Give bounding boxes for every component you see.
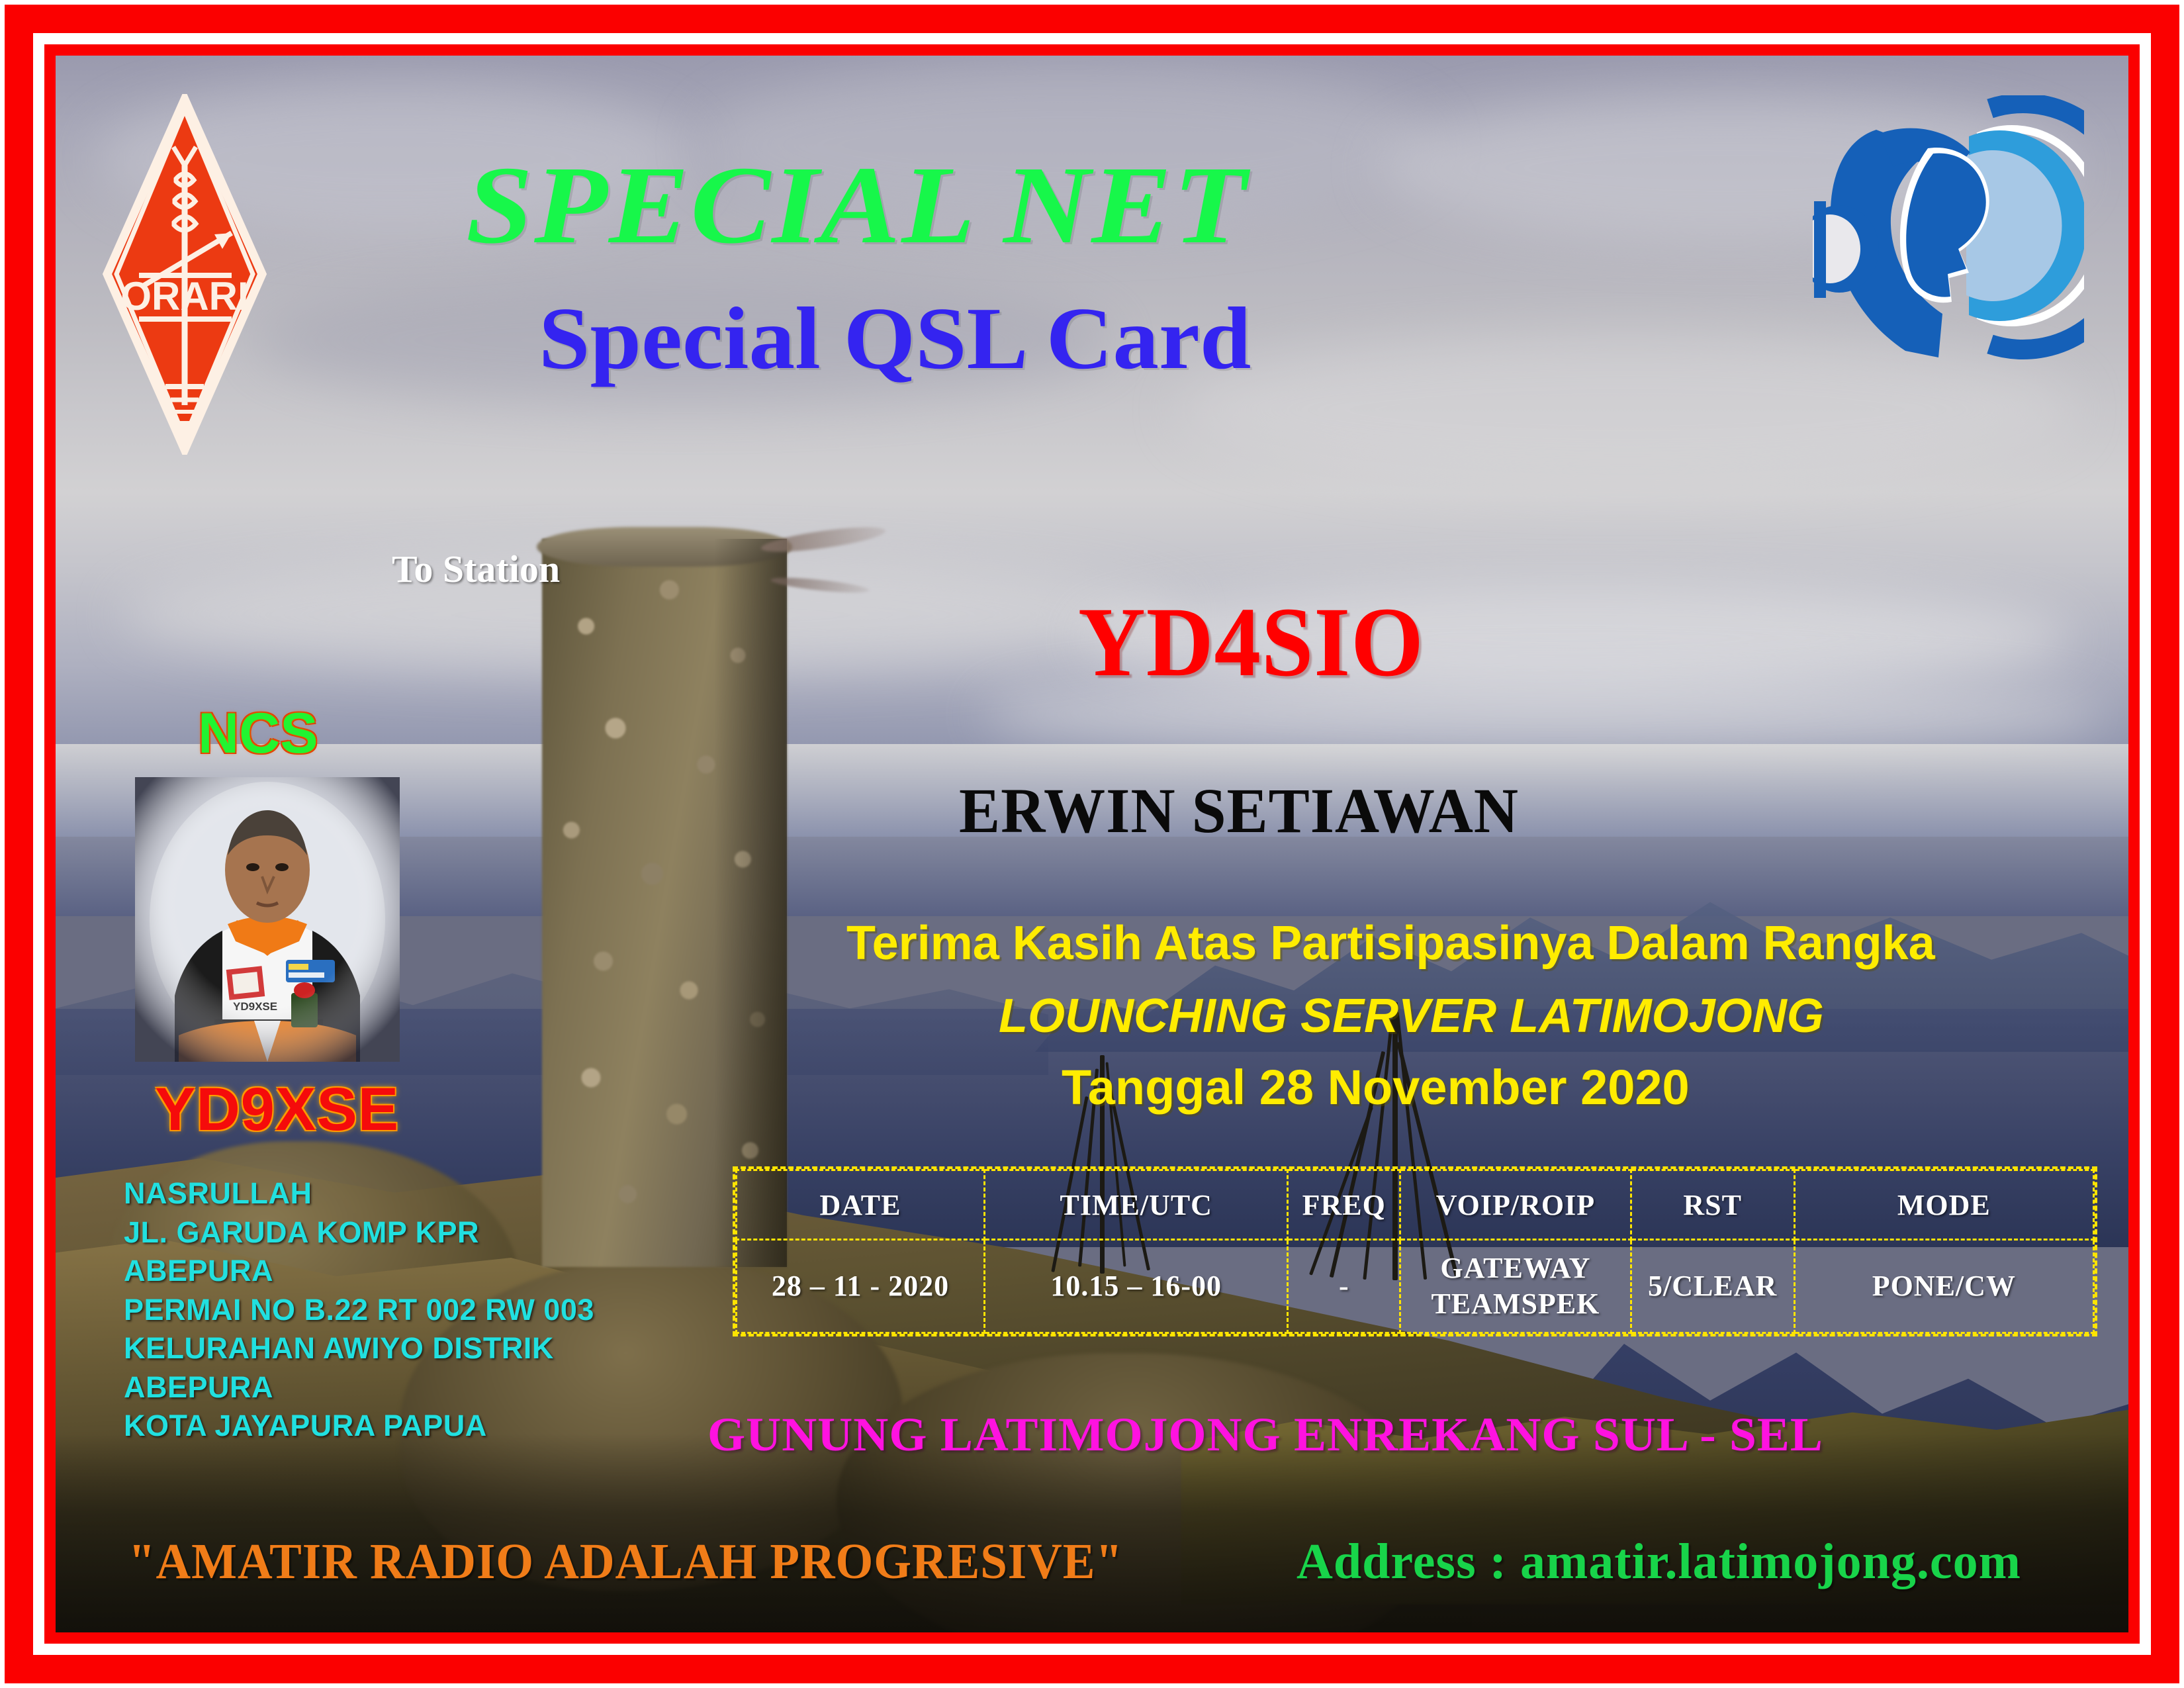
card-title-special-net: SPECIAL NET bbox=[466, 142, 1248, 269]
address-line: KOTA JAYAPURA PAPUA bbox=[124, 1407, 693, 1446]
address-line: PERMAI NO B.22 RT 002 RW 003 bbox=[124, 1291, 693, 1330]
station-callsign: YD4SIO bbox=[1078, 585, 1424, 699]
cell-voip-line1: GATEWAY bbox=[1401, 1250, 1630, 1286]
stone-cairn-monument bbox=[542, 519, 787, 1267]
column-header-rst: RST bbox=[1631, 1170, 1794, 1240]
cell-voip-line2: TEAMSPEK bbox=[1401, 1286, 1630, 1322]
qso-details-table: DATE TIME/UTC FREQ VOIP/ROIP RST MODE 28… bbox=[733, 1166, 2097, 1336]
headset-profile-soundwave-logo bbox=[1813, 95, 2084, 360]
to-station-label: To Station bbox=[392, 547, 560, 591]
cell-date: 28 – 11 - 2020 bbox=[737, 1240, 985, 1333]
ncs-callsign: YD9XSE bbox=[155, 1075, 399, 1145]
address-line: JL. GARUDA KOMP KPR bbox=[124, 1213, 693, 1252]
thanks-message: Terima Kasih Atas Partisipasinya Dalam R… bbox=[846, 916, 1935, 970]
event-name: LOUNCHING SERVER LATIMOJONG bbox=[999, 989, 1824, 1043]
column-header-mode: MODE bbox=[1794, 1170, 2093, 1240]
event-date: Tanggal 28 November 2020 bbox=[1062, 1059, 1690, 1115]
address-line: KELURAHAN AWIYO DISTRIK bbox=[124, 1329, 693, 1368]
address-line: ABEPURA bbox=[124, 1368, 693, 1407]
column-header-voip: VOIP/ROIP bbox=[1400, 1170, 1631, 1240]
card-subtitle-special-qsl-card: Special QSL Card bbox=[539, 287, 1251, 389]
column-header-time: TIME/UTC bbox=[985, 1170, 1288, 1240]
orari-logo-text: ORARI bbox=[120, 274, 248, 318]
table-header-row: DATE TIME/UTC FREQ VOIP/ROIP RST MODE bbox=[737, 1170, 2094, 1240]
operator-name: ERWIN SETIAWAN bbox=[959, 774, 1519, 847]
orari-logo: ORARI bbox=[102, 94, 267, 455]
table-row: 28 – 11 - 2020 10.15 – 16-00 - GATEWAY T… bbox=[737, 1240, 2094, 1333]
cell-freq: - bbox=[1288, 1240, 1400, 1333]
cell-time: 10.15 – 16-00 bbox=[985, 1240, 1288, 1333]
column-header-date: DATE bbox=[737, 1170, 985, 1240]
club-motto: "AMATIR RADIO ADALAH PROGRESIVE" bbox=[128, 1533, 1123, 1591]
column-header-freq: FREQ bbox=[1288, 1170, 1400, 1240]
mountain-photo-background: ORARI bbox=[56, 56, 2128, 1632]
address-line: ABEPURA bbox=[124, 1252, 693, 1291]
cell-voip: GATEWAY TEAMSPEK bbox=[1400, 1240, 1631, 1333]
cell-rst: 5/CLEAR bbox=[1631, 1240, 1794, 1333]
ncs-label: NCS bbox=[198, 701, 318, 767]
cell-mode: PONE/CW bbox=[1794, 1240, 2093, 1333]
web-address: Address : amatir.latimojong.com bbox=[1297, 1533, 2021, 1591]
event-location: GUNUNG LATIMOJONG ENREKANG SUL - SEL bbox=[707, 1407, 1823, 1462]
qsl-card: ORARI bbox=[0, 0, 2184, 1688]
ncs-operator-photo: YD9XSE bbox=[135, 777, 400, 1062]
ncs-mailing-address: NASRULLAH JL. GARUDA KOMP KPR ABEPURA PE… bbox=[124, 1174, 693, 1446]
address-line: NASRULLAH bbox=[124, 1174, 693, 1213]
